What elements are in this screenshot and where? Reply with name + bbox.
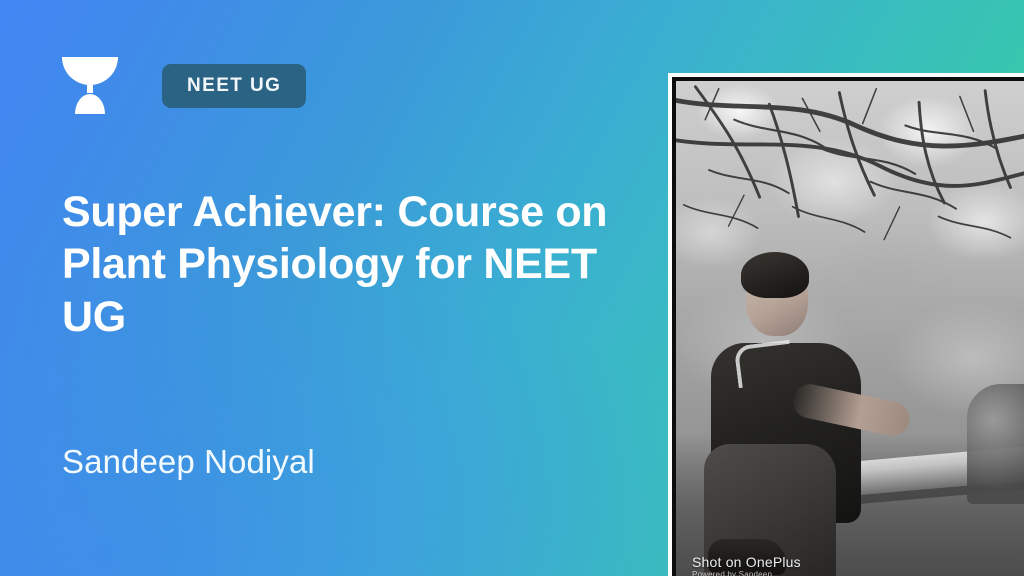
category-badge[interactable]: NEET UG — [162, 64, 306, 108]
watermark-main-text: Shot on OnePlus — [692, 554, 801, 570]
person-hair — [741, 252, 809, 298]
chalice-base-shape — [75, 94, 105, 114]
instructor-photo: Shot on OnePlus Powered by Sandeep — [672, 77, 1024, 576]
seated-person-figure — [676, 81, 1024, 576]
brand-and-category-row: NEET UG — [62, 55, 306, 117]
chalice-bowl-shape — [62, 57, 118, 85]
camera-watermark: Shot on OnePlus Powered by Sandeep — [692, 554, 801, 576]
polo-collar — [733, 340, 794, 389]
course-title: Super Achiever: Course on Plant Physiolo… — [62, 186, 642, 343]
course-thumbnail-card: NEET UG Super Achiever: Course on Plant … — [0, 0, 1024, 576]
watermark-sub-text: Powered by Sandeep — [692, 570, 801, 576]
content-column: NEET UG Super Achiever: Course on Plant … — [62, 0, 662, 576]
instructor-photo-frame: Shot on OnePlus Powered by Sandeep — [668, 73, 1024, 576]
unacademy-chalice-icon — [62, 55, 118, 117]
instructor-name: Sandeep Nodiyal — [62, 443, 315, 481]
photo-background-scene: Shot on OnePlus Powered by Sandeep — [676, 81, 1024, 576]
chalice-stem-shape — [87, 85, 93, 93]
